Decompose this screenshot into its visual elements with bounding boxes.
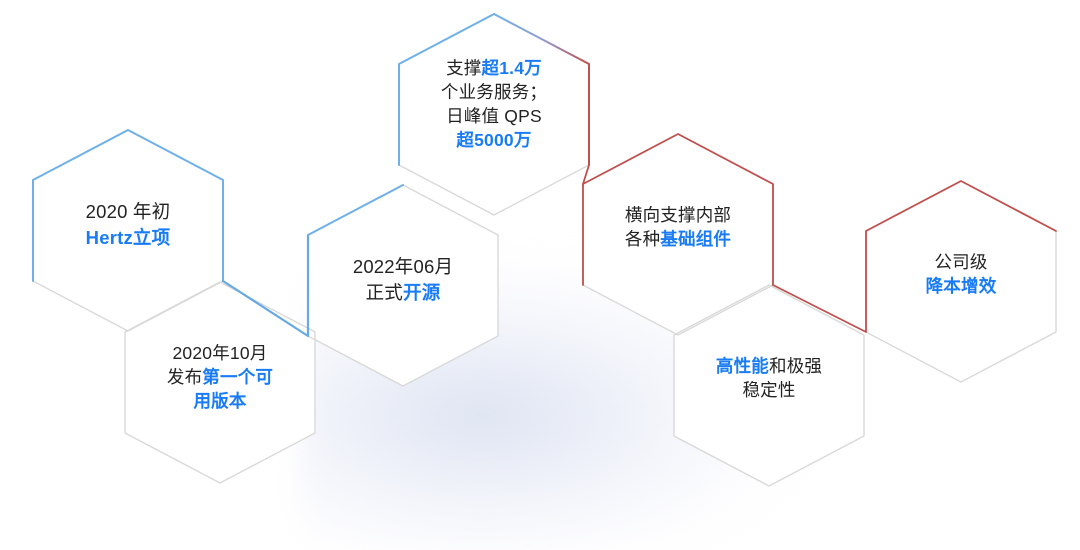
- hexagon-diagram-canvas: 2020 年初Hertz立项 2020年10月发布第一个可用版本 2022年06…: [0, 0, 1080, 517]
- hexagon-outlines: [0, 0, 1080, 517]
- hexagon-fills: [33, 14, 1056, 486]
